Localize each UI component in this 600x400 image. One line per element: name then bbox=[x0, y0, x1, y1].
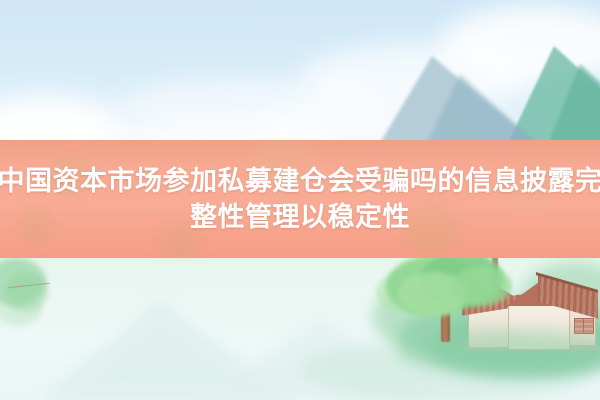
tree-canopy bbox=[452, 266, 512, 306]
banner-image: 中国资本市场参加私募建仓会受骗吗的信息披露完 整性管理以稳定性 bbox=[0, 0, 600, 400]
title-line-2: 整性管理以稳定性 bbox=[190, 199, 410, 235]
house-window bbox=[574, 318, 594, 334]
house-window-mullion bbox=[583, 318, 584, 334]
title-line-1: 中国资本市场参加私募建仓会受骗吗的信息披露完 bbox=[0, 163, 600, 199]
title-band: 中国资本市场参加私募建仓会受骗吗的信息披露完 整性管理以稳定性 bbox=[0, 140, 600, 258]
grove-front bbox=[396, 330, 600, 374]
